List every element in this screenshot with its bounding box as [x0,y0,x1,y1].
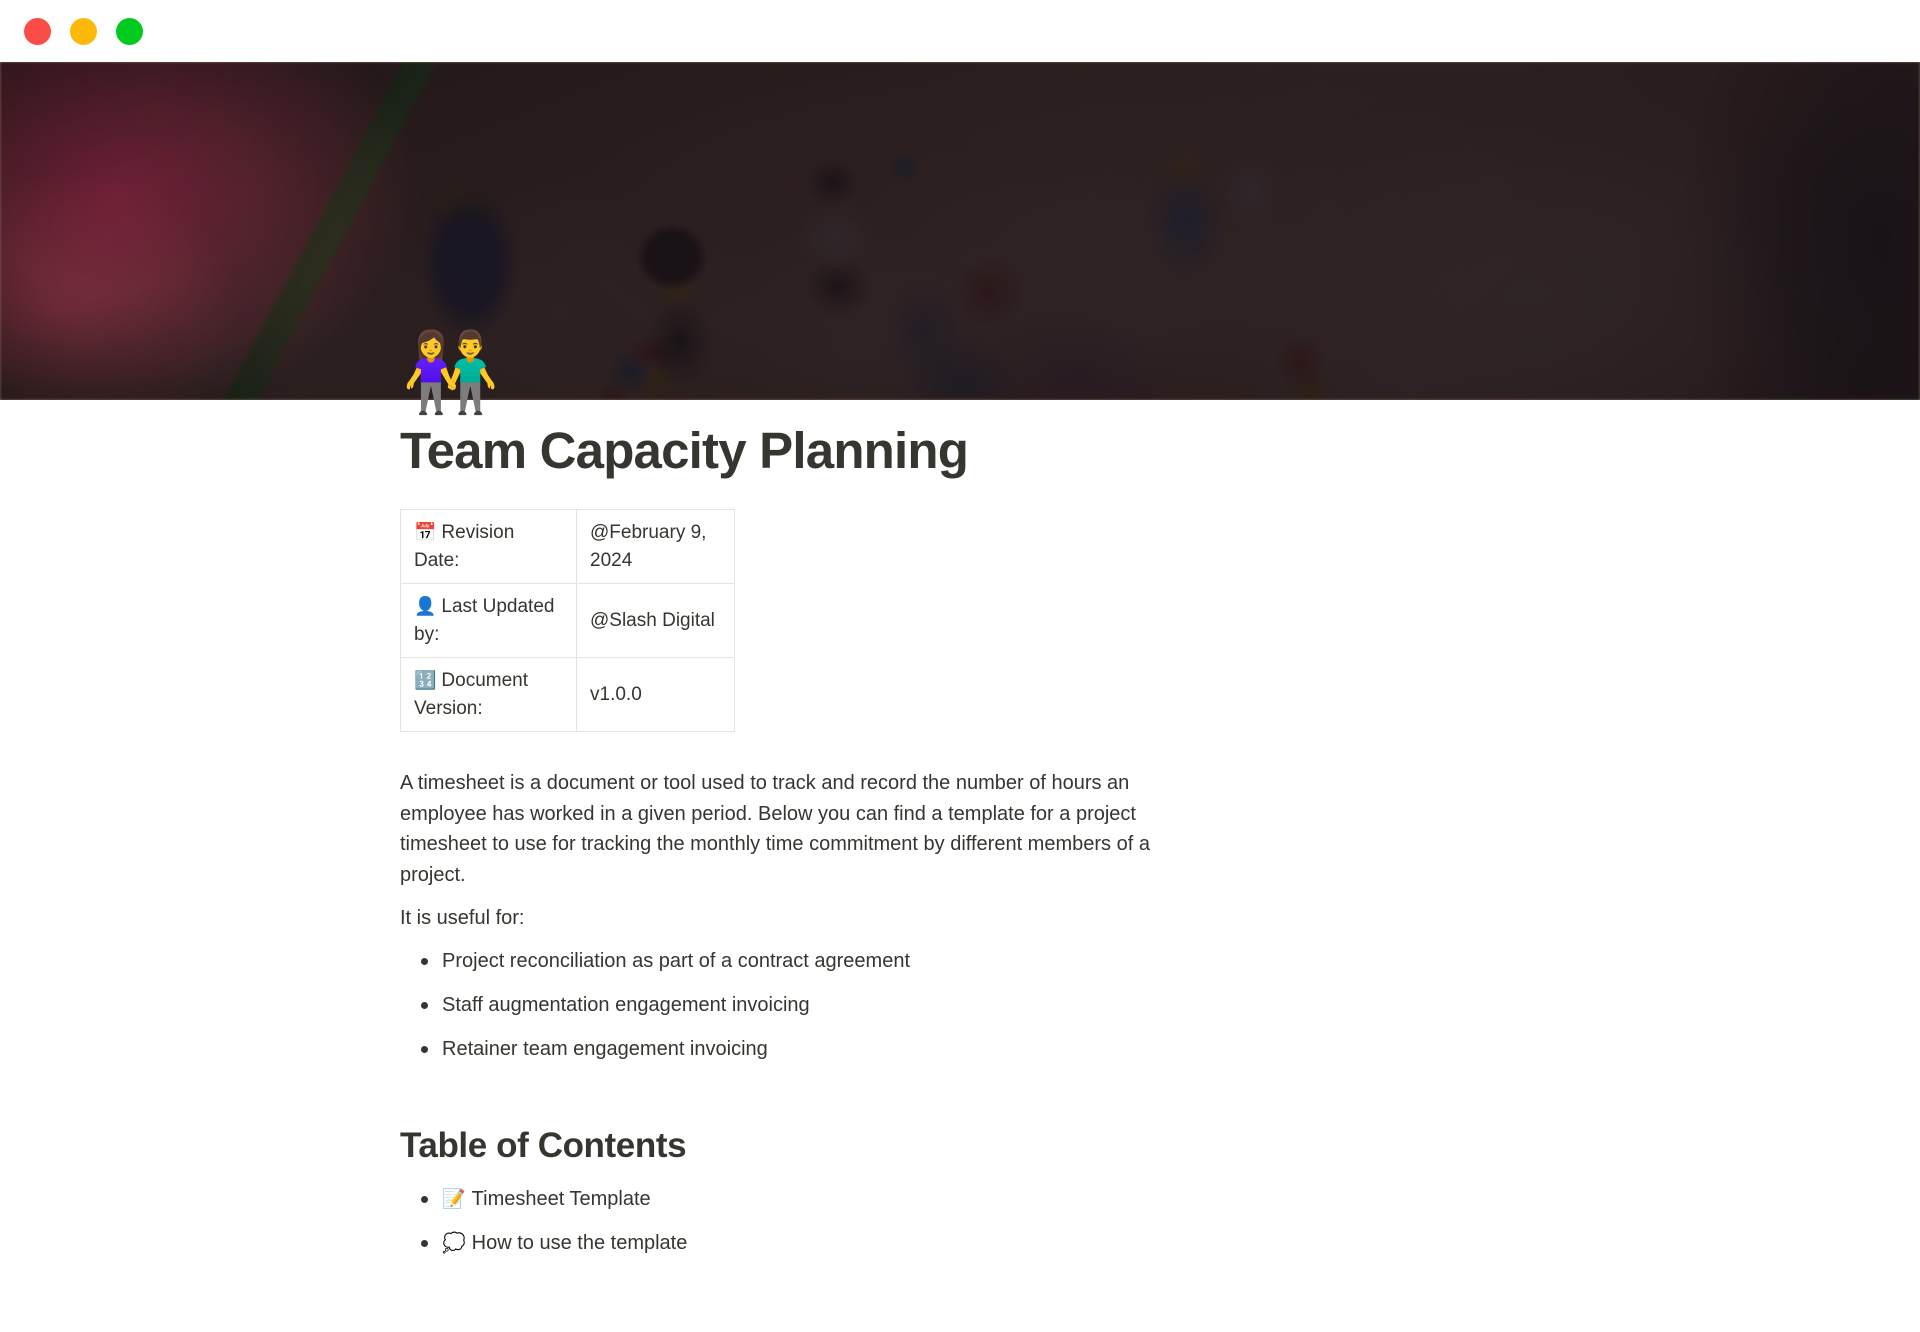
page-title[interactable]: Team Capacity Planning [400,422,1170,479]
intro-paragraph[interactable]: A timesheet is a document or tool used t… [400,768,1170,890]
close-window-icon[interactable] [24,18,51,45]
table-of-contents-list: 📝Timesheet Template 💭How to use the temp… [400,1184,1170,1258]
list-item[interactable]: Retainer team engagement invoicing [400,1034,1170,1064]
list-item[interactable]: Project reconciliation as part of a cont… [400,946,1170,976]
metadata-value-cell[interactable]: @Slash Digital [577,584,735,658]
minimize-window-icon[interactable] [70,18,97,45]
metadata-table-body: 📅Revision Date: @February 9, 2024 👤Last … [401,510,735,732]
metadata-value-cell[interactable]: v1.0.0 [577,658,735,732]
memo-icon: 📝 [442,1188,466,1210]
page-cover-image[interactable] [0,62,1920,400]
calendar-icon: 📅 [414,522,436,543]
list-item[interactable]: Staff augmentation engagement invoicing [400,990,1170,1020]
list-item[interactable]: 💭How to use the template [400,1228,1170,1258]
traffic-light-group [24,18,143,45]
cover-photo-lego-minifigures [0,62,1920,400]
person-bust-icon: 👤 [414,596,436,617]
document-page: Team Capacity Planning 📅Revision Date: @… [0,400,1920,1332]
useful-for-lead-in[interactable]: It is useful for: [400,903,1170,933]
useful-for-list: Project reconciliation as part of a cont… [400,946,1170,1064]
table-row[interactable]: 📅Revision Date: @February 9, 2024 [401,510,735,584]
toc-link-label[interactable]: Timesheet Template [472,1188,651,1210]
thought-balloon-icon: 💭 [442,1232,466,1254]
metadata-label-cell[interactable]: 🔢Document Version: [401,658,577,732]
toc-link-label[interactable]: How to use the template [472,1232,688,1254]
list-item[interactable]: 📝Timesheet Template [400,1184,1170,1214]
input-numbers-icon: 🔢 [414,670,436,691]
maximize-window-icon[interactable] [116,18,143,45]
metadata-value-cell[interactable]: @February 9, 2024 [577,510,735,584]
document-content-column: Team Capacity Planning 📅Revision Date: @… [400,422,1170,1332]
table-of-contents-heading[interactable]: Table of Contents [400,1126,1170,1166]
page-icon-emoji[interactable]: 👫 [402,334,499,412]
table-row[interactable]: 👤Last Updated by: @Slash Digital [401,584,735,658]
metadata-label-cell[interactable]: 📅Revision Date: [401,510,577,584]
table-row[interactable]: 🔢Document Version: v1.0.0 [401,658,735,732]
window-titlebar [0,0,1920,62]
metadata-label-cell[interactable]: 👤Last Updated by: [401,584,577,658]
document-metadata-table: 📅Revision Date: @February 9, 2024 👤Last … [400,509,735,732]
